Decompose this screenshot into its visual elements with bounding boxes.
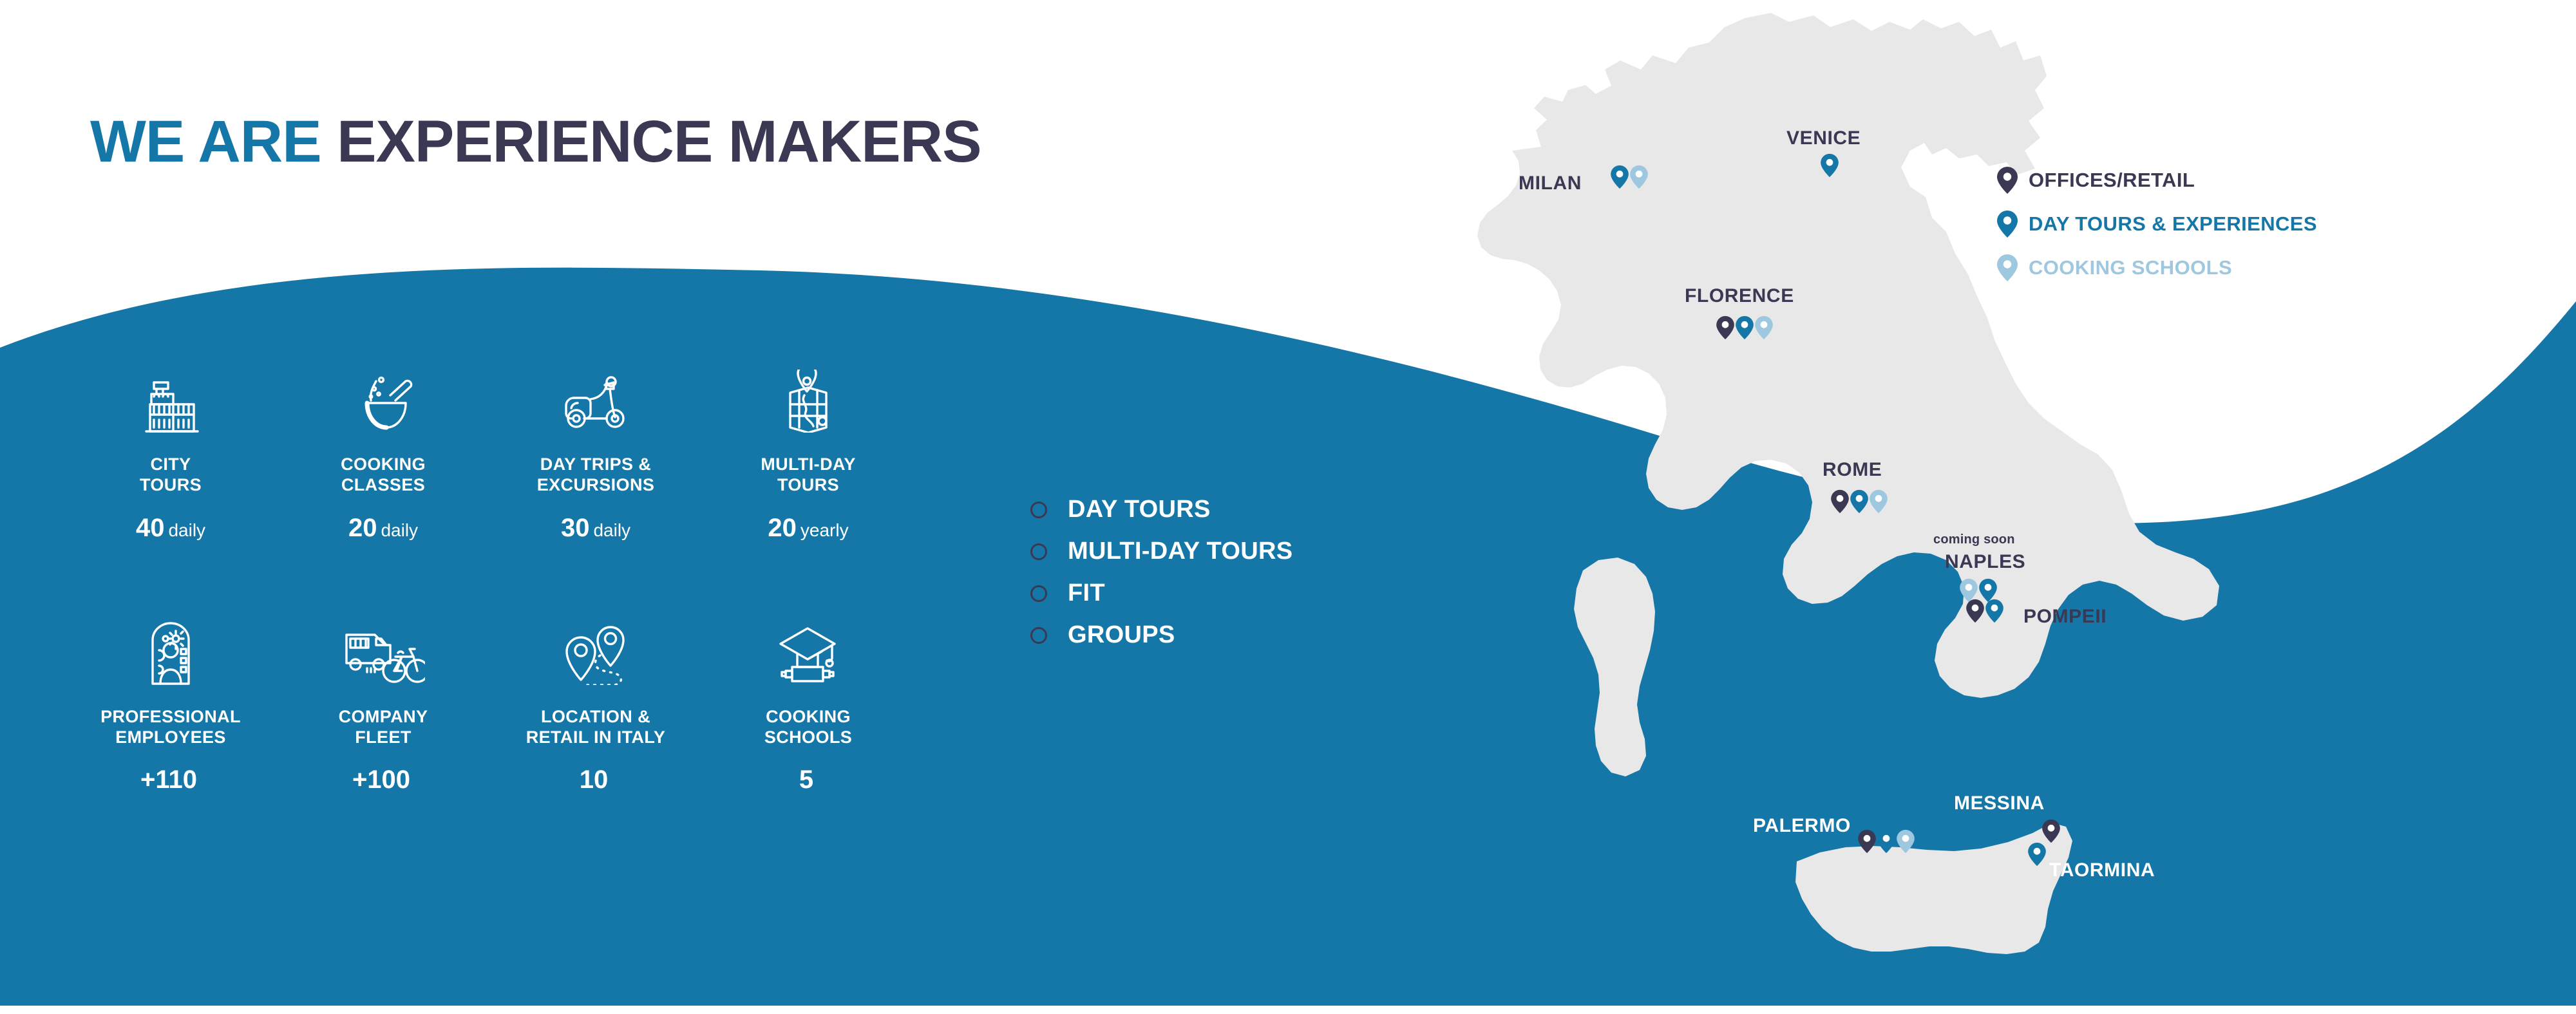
list-item[interactable]: MULTI-DAY TOURS	[1030, 538, 1293, 565]
city-label: PALERMO	[1753, 816, 1851, 836]
stat-value: 40daily	[136, 515, 205, 541]
stat-label: LOCATION & RETAIL IN ITALY	[526, 707, 666, 748]
city-label: NAPLES	[1945, 552, 2025, 572]
employee-badge-icon	[138, 613, 203, 685]
stat-professional-employees: PROFESSIONAL EMPLOYEES +110	[64, 613, 277, 793]
stat-number: 40	[136, 514, 165, 542]
stat-city-tours: CITY TOURS 40daily	[64, 361, 277, 541]
map-pin-icon	[1877, 829, 1896, 854]
location-route-icon	[558, 613, 634, 685]
city-label: POMPEII	[2023, 607, 2107, 626]
city-label: MILAN	[1519, 174, 1582, 193]
graduation-cap-icon	[770, 613, 846, 685]
scooter-icon	[560, 361, 632, 433]
legend-item-day-tours[interactable]: DAY TOURS & EXPERIENCES	[1996, 210, 2317, 238]
map-pin-icon	[1996, 166, 2018, 194]
list-item-label: DAY TOURS	[1068, 496, 1211, 523]
stats-grid: CITY TOURS 40daily	[64, 361, 914, 793]
van-bike-icon	[341, 613, 425, 685]
map-pin-icon	[1996, 210, 2018, 238]
stat-cooking-schools: COOKING SCHOOLS 5	[702, 613, 914, 793]
map-pin-icon	[1896, 829, 1915, 854]
pin-group	[1830, 489, 1888, 514]
stat-number: +110	[140, 765, 197, 794]
bullet-circle-icon	[1030, 543, 1047, 560]
stat-label: COOKING CLASSES	[341, 455, 426, 496]
services-list: DAY TOURS MULTI-DAY TOURS FIT GROUPS	[1030, 496, 1293, 663]
stats-row-1: CITY TOURS 40daily	[64, 361, 914, 541]
bullet-circle-icon	[1030, 502, 1047, 518]
colosseum-icon	[137, 361, 204, 433]
bullet-circle-icon	[1030, 627, 1047, 644]
page-title: WE ARE EXPERIENCE MAKERS	[90, 108, 981, 176]
stat-value: 20yearly	[768, 515, 848, 541]
stat-number: 10	[580, 765, 609, 794]
infographic-canvas: WE ARE EXPERIENCE MAKERS	[0, 0, 2576, 1006]
list-item-label: FIT	[1068, 579, 1105, 607]
stat-label: PROFESSIONAL EMPLOYEES	[100, 707, 241, 748]
stat-location-retail: LOCATION & RETAIL IN ITALY 10	[489, 613, 702, 793]
pin-group	[1857, 829, 1915, 854]
map-pin-icon	[1869, 489, 1888, 514]
stat-label: COOKING SCHOOLS	[764, 707, 852, 748]
map-pin-icon	[1754, 315, 1774, 340]
stat-multi-day-tours: MULTI-DAY TOURS 20yearly	[702, 361, 914, 541]
pin-group	[1820, 153, 1839, 178]
stat-value: 10	[580, 767, 612, 793]
map-pin-icon	[1610, 165, 1629, 189]
stat-value: 5	[799, 767, 817, 793]
stat-value: 30daily	[561, 515, 630, 541]
map-pin-icon	[1857, 829, 1877, 854]
stat-label: DAY TRIPS & EXCURSIONS	[537, 455, 655, 496]
map-pin-icon	[2041, 819, 2061, 843]
city-label: TAORMINA	[2049, 861, 2155, 880]
map-legend: OFFICES/RETAIL DAY TOURS & EXPERIENCES C…	[1996, 166, 2317, 297]
map-pin-icon	[1850, 489, 1869, 514]
legend-item-cooking-schools[interactable]: COOKING SCHOOLS	[1996, 254, 2317, 282]
cooking-pan-icon	[348, 361, 419, 433]
legend-label: DAY TOURS & EXPERIENCES	[2029, 212, 2317, 236]
map-pin-icon	[1716, 315, 1735, 340]
legend-item-offices-retail[interactable]: OFFICES/RETAIL	[1996, 166, 2317, 194]
stat-company-fleet: COMPANY FLEET +100	[277, 613, 489, 793]
stat-label: MULTI-DAY TOURS	[761, 455, 856, 496]
stats-row-2: PROFESSIONAL EMPLOYEES +110	[64, 613, 914, 793]
pin-group	[1965, 599, 2004, 623]
list-item[interactable]: FIT	[1030, 579, 1293, 607]
city-label: FLORENCE	[1685, 286, 1794, 306]
list-item-label: GROUPS	[1068, 621, 1175, 649]
city-label: ROME	[1823, 460, 1882, 480]
map-pin-icon	[1996, 254, 2018, 282]
stat-unit: daily	[593, 520, 630, 540]
pin-group	[1716, 315, 1774, 340]
stat-unit: daily	[381, 520, 418, 540]
title-navy-part: EXPERIENCE MAKERS	[337, 109, 981, 174]
legend-label: OFFICES/RETAIL	[2029, 169, 2195, 192]
list-item[interactable]: DAY TOURS	[1030, 496, 1293, 523]
city-sublabel-coming-soon: coming soon	[1933, 533, 2015, 546]
pin-group	[2041, 819, 2061, 843]
stat-unit: yearly	[800, 520, 849, 540]
stat-value: 20daily	[348, 515, 418, 541]
stat-unit: daily	[168, 520, 205, 540]
map-pin-icon	[1820, 153, 1839, 178]
map-pin-icon	[1985, 599, 2004, 623]
list-item-label: MULTI-DAY TOURS	[1068, 538, 1293, 565]
map-pin-icon	[776, 361, 840, 433]
stat-label: COMPANY FLEET	[339, 707, 428, 748]
map-pin-icon	[1830, 489, 1850, 514]
map-pin-icon	[1965, 599, 1985, 623]
stat-number: 30	[561, 514, 590, 542]
stat-day-trips: DAY TRIPS & EXCURSIONS 30daily	[489, 361, 702, 541]
map-pin-icon	[1629, 165, 1649, 189]
stat-label: CITY TOURS	[140, 455, 202, 496]
title-blue-part: WE ARE	[90, 109, 337, 174]
pin-group	[2027, 842, 2047, 867]
list-item[interactable]: GROUPS	[1030, 621, 1293, 649]
legend-label: COOKING SCHOOLS	[2029, 256, 2232, 279]
stat-number: 5	[799, 765, 813, 794]
map-pin-icon	[1735, 315, 1754, 340]
stat-cooking-classes: COOKING CLASSES 20daily	[277, 361, 489, 541]
stat-number: 20	[348, 514, 377, 542]
stat-value: +110	[140, 767, 201, 793]
stat-value: +100	[352, 767, 414, 793]
city-label: MESSINA	[1954, 794, 2045, 813]
city-label: VENICE	[1786, 129, 1861, 148]
bullet-circle-icon	[1030, 585, 1047, 602]
stat-number: +100	[352, 765, 410, 794]
map-pin-icon	[2027, 842, 2047, 867]
stat-number: 20	[768, 514, 797, 542]
pin-group	[1610, 165, 1649, 189]
